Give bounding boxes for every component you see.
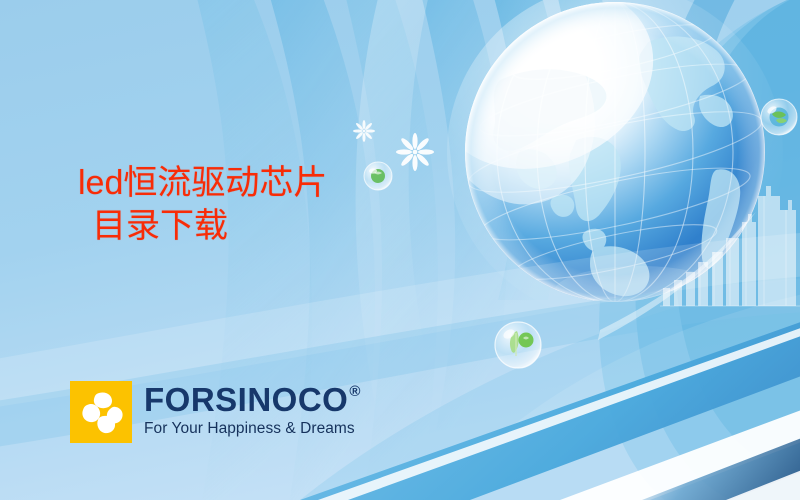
brand-logo[interactable]: FORSINOCO ® For Your Happiness & Dreams [70,381,361,443]
logo-name: FORSINOCO [144,383,348,416]
slide-canvas: led恒流驱动芯片 目录下载 FORSINOCO ® For Your Happ… [0,0,800,500]
forsinoco-pinwheel-mark [70,381,132,443]
logo-wordmark: FORSINOCO ® [144,383,361,416]
sparkle-flower-large [396,133,434,171]
sparkle-flower-small [353,120,375,142]
logo-text-block: FORSINOCO ® For Your Happiness & Dreams [144,381,361,437]
bubble-globe-small [364,162,392,190]
logo-tagline: For Your Happiness & Dreams [144,420,361,437]
registered-trademark-icon: ® [349,384,361,399]
bubble-globe-right [761,99,797,135]
bubble-leaf [495,322,541,368]
